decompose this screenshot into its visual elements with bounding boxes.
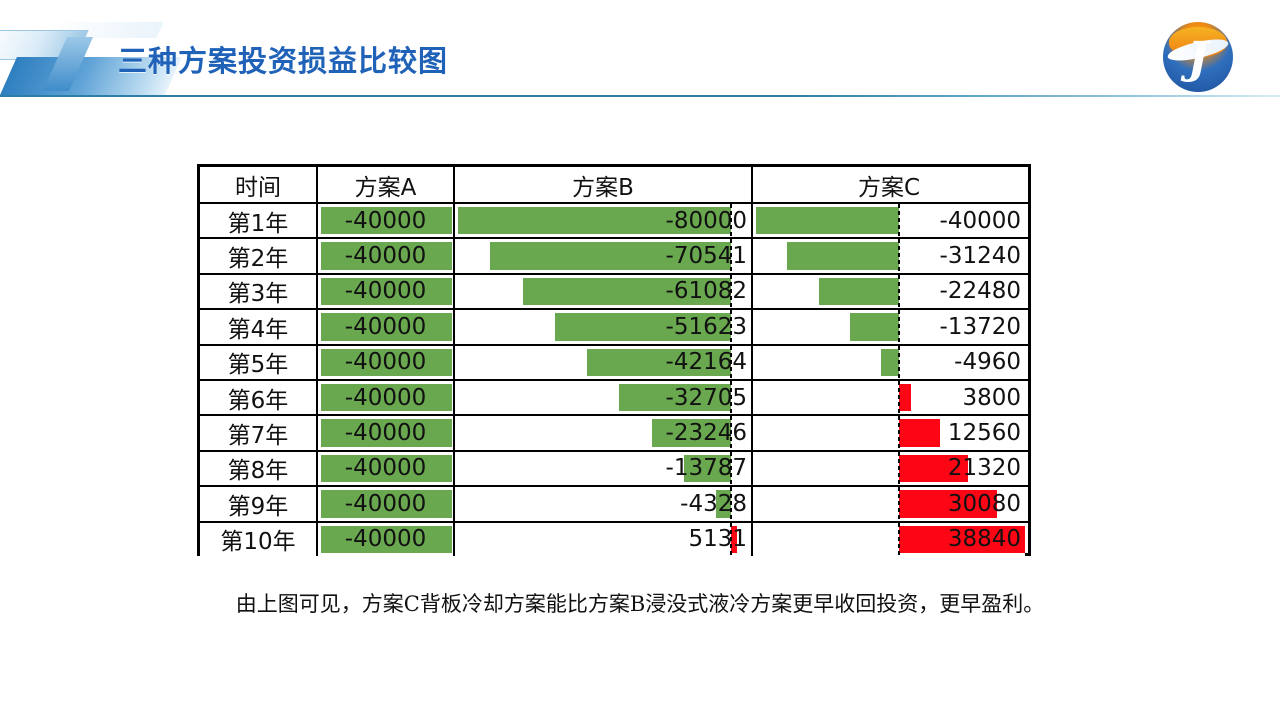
table-row: 第5年-40000-42164-4960 (200, 344, 1028, 379)
cell-value: 12560 (948, 416, 1021, 449)
cell-value: -42164 (666, 346, 747, 379)
cell-time-year-2: 第2年 (200, 239, 316, 272)
comparison-table: 时间方案A方案B方案C第1年-40000-80000-40000第2年-4000… (197, 164, 1031, 556)
company-logo-icon: J (1163, 22, 1233, 92)
row-label: 第7年 (200, 416, 316, 449)
column-header-plan-a: 方案A (316, 167, 453, 202)
table-row: 第10年-40000513138840 (200, 521, 1028, 556)
cell-b-year-10: 5131 (453, 523, 751, 556)
data-bar-negative (850, 313, 899, 340)
column-header-label: 时间 (200, 167, 316, 202)
cell-time-year-5: 第5年 (200, 346, 316, 379)
cell-value: -23246 (666, 416, 747, 449)
column-header-label: 方案A (318, 167, 453, 202)
cell-c-year-9: 30080 (751, 487, 1025, 520)
cell-c-year-10: 38840 (751, 523, 1025, 556)
row-label: 第3年 (200, 275, 316, 308)
row-label: 第5年 (200, 346, 316, 379)
table-row: 第8年-40000-1378721320 (200, 450, 1028, 485)
cell-c-year-2: -31240 (751, 239, 1025, 272)
table-row: 第3年-40000-61082-22480 (200, 273, 1028, 308)
zero-axis-line (898, 204, 900, 237)
column-header-time: 时间 (200, 167, 316, 202)
data-bar-negative (819, 278, 899, 305)
cell-a-year-6: -40000 (316, 381, 453, 414)
table-row: 第6年-40000-327053800 (200, 379, 1028, 414)
zero-axis-line (898, 239, 900, 272)
zero-axis-line (898, 452, 900, 485)
cell-time-year-4: 第4年 (200, 310, 316, 343)
cell-value: -40000 (318, 381, 453, 414)
page-title: 三种方案投资损益比较图 (118, 38, 448, 80)
cell-a-year-2: -40000 (316, 239, 453, 272)
cell-b-year-1: -80000 (453, 204, 751, 237)
cell-value: -40000 (940, 204, 1021, 237)
cell-time-year-6: 第6年 (200, 381, 316, 414)
cell-a-year-1: -40000 (316, 204, 453, 237)
cell-b-year-8: -13787 (453, 452, 751, 485)
cell-value: -40000 (318, 204, 453, 237)
row-label: 第1年 (200, 204, 316, 237)
row-label: 第2年 (200, 239, 316, 272)
data-bar-positive (899, 419, 940, 446)
slide-header: 三种方案投资损益比较图 J (0, 0, 1280, 100)
cell-time-year-9: 第9年 (200, 487, 316, 520)
cell-value: -40000 (318, 487, 453, 520)
cell-value: 30080 (948, 487, 1021, 520)
cell-value: 38840 (948, 523, 1021, 556)
cell-value: -61082 (666, 275, 747, 308)
cell-value: -13787 (666, 452, 747, 485)
cell-value: -31240 (940, 239, 1021, 272)
cell-c-year-7: 12560 (751, 416, 1025, 449)
cell-a-year-8: -40000 (316, 452, 453, 485)
cell-b-year-3: -61082 (453, 275, 751, 308)
table-row: 第1年-40000-80000-40000 (200, 202, 1028, 237)
cell-time-year-8: 第8年 (200, 452, 316, 485)
cell-b-year-2: -70541 (453, 239, 751, 272)
data-bar-negative (881, 349, 899, 376)
column-header-label: 方案B (455, 167, 751, 202)
table-row: 第4年-40000-51623-13720 (200, 308, 1028, 343)
cell-time-year-7: 第7年 (200, 416, 316, 449)
cell-a-year-5: -40000 (316, 346, 453, 379)
cell-value: -32705 (666, 381, 747, 414)
cell-value: -40000 (318, 239, 453, 272)
zero-axis-line (898, 346, 900, 379)
cell-value: -40000 (318, 310, 453, 343)
row-label: 第8年 (200, 452, 316, 485)
cell-c-year-5: -4960 (751, 346, 1025, 379)
cell-a-year-10: -40000 (316, 523, 453, 556)
cell-value: -13720 (940, 310, 1021, 343)
cell-value: -4960 (954, 346, 1021, 379)
row-label: 第9年 (200, 487, 316, 520)
table-row: 第2年-40000-70541-31240 (200, 237, 1028, 272)
cell-value: 21320 (948, 452, 1021, 485)
zero-axis-line (898, 416, 900, 449)
row-label: 第4年 (200, 310, 316, 343)
cell-b-year-7: -23246 (453, 416, 751, 449)
cell-c-year-4: -13720 (751, 310, 1025, 343)
cell-c-year-6: 3800 (751, 381, 1025, 414)
cell-value: -40000 (318, 416, 453, 449)
cell-c-year-1: -40000 (751, 204, 1025, 237)
table-row: 第7年-40000-2324612560 (200, 414, 1028, 449)
cell-value: -40000 (318, 275, 453, 308)
header-divider (0, 95, 1280, 97)
cell-value: -80000 (666, 204, 747, 237)
cell-c-year-3: -22480 (751, 275, 1025, 308)
zero-axis-line (898, 381, 900, 414)
row-label: 第10年 (200, 523, 316, 556)
cell-value: 5131 (688, 523, 747, 556)
data-bar-negative (756, 207, 899, 234)
zero-axis-line (898, 523, 900, 556)
cell-c-year-8: 21320 (751, 452, 1025, 485)
column-header-plan-c: 方案C (751, 167, 1025, 202)
cell-b-year-5: -42164 (453, 346, 751, 379)
cell-time-year-1: 第1年 (200, 204, 316, 237)
cell-value: 3800 (962, 381, 1021, 414)
logo-letter: J (1163, 22, 1233, 92)
cell-a-year-3: -40000 (316, 275, 453, 308)
column-header-label: 方案C (753, 167, 1025, 202)
cell-b-year-9: -4328 (453, 487, 751, 520)
zero-axis-line (898, 310, 900, 343)
data-bar-negative (787, 242, 899, 269)
table-row: 第9年-40000-432830080 (200, 485, 1028, 520)
cell-value: -51623 (666, 310, 747, 343)
cell-value: -40000 (318, 346, 453, 379)
table-header-row: 时间方案A方案B方案C (200, 167, 1028, 202)
slide-caption: 由上图可见，方案C背板冷却方案能比方案B浸没式液冷方案更早收回投资，更早盈利。 (0, 588, 1280, 618)
cell-a-year-9: -40000 (316, 487, 453, 520)
cell-time-year-3: 第3年 (200, 275, 316, 308)
cell-value: -70541 (666, 239, 747, 272)
column-header-plan-b: 方案B (453, 167, 751, 202)
cell-a-year-7: -40000 (316, 416, 453, 449)
cell-value: -22480 (940, 275, 1021, 308)
row-label: 第6年 (200, 381, 316, 414)
zero-axis-line (898, 275, 900, 308)
cell-b-year-4: -51623 (453, 310, 751, 343)
cell-a-year-4: -40000 (316, 310, 453, 343)
cell-value: -40000 (318, 523, 453, 556)
cell-b-year-6: -32705 (453, 381, 751, 414)
zero-axis-line (898, 487, 900, 520)
cell-value: -40000 (318, 452, 453, 485)
cell-value: -4328 (680, 487, 747, 520)
cell-time-year-10: 第10年 (200, 523, 316, 556)
data-bar-positive (899, 384, 911, 411)
slide: 三种方案投资损益比较图 J 时间方案A方案B方案C第1年-40000-80000… (0, 0, 1280, 720)
